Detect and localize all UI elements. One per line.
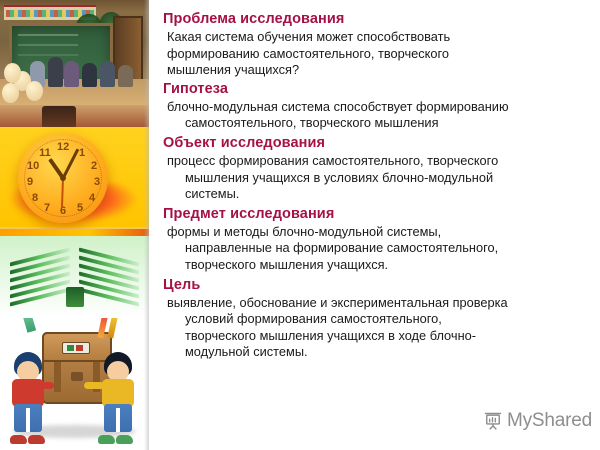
classroom-balloons [0,65,44,105]
section-heading: Гипотеза [163,80,595,99]
body-line: условий формирования самостоятельного, [163,311,595,328]
clock-numeral: 9 [24,176,36,188]
clock-center-pin [60,175,66,181]
body-line: творческого мышления учащихся в ходе бло… [163,328,595,345]
presentation-chart-icon [483,411,503,431]
classroom-photo [0,0,149,105]
clock-face: 12 1 2 3 4 5 6 7 8 9 10 11 [18,133,108,223]
body-line: формы и методы блочно-модульной системы, [163,224,595,241]
body-line: блочно-модульная система способствует фо… [163,99,595,116]
schoolkids-illustration [0,318,149,450]
open-book-icon [8,243,141,305]
book-orange-strip [0,229,149,236]
slide-text-content: Проблема исследования Какая система обуч… [163,10,595,446]
clock-numeral: 2 [88,160,100,172]
image-column: 12 1 2 3 4 5 6 7 8 9 10 11 [0,0,149,450]
clock-numeral: 11 [39,147,51,159]
clock-numeral: 5 [74,202,86,214]
section-body: формы и методы блочно-модульной системы,… [163,224,595,274]
section-goal: Цель выявление, обоснование и эксперимен… [163,276,595,361]
body-line: Какая система обучения может способствов… [163,29,595,46]
section-body: блочно-модульная система способствует фо… [163,99,595,132]
clock-numeral: 4 [86,192,98,204]
body-line: мышления учащихся в условиях блочно-моду… [163,170,595,187]
section-heading: Проблема исследования [163,10,595,29]
watermark-label: MyShared [507,410,592,432]
clock-photo: 12 1 2 3 4 5 6 7 8 9 10 11 [0,105,149,229]
clock-numeral: 10 [27,160,39,172]
section-object: Объект исследования процесс формирования… [163,134,595,203]
open-book-photo [0,229,149,318]
clock-numeral: 7 [41,202,53,214]
section-body: выявление, обоснование и экспериментальн… [163,295,595,361]
body-line: выявление, обоснование и экспериментальн… [163,295,595,312]
section-heading: Предмет исследования [163,205,595,224]
section-problem: Проблема исследования Какая система обуч… [163,10,595,79]
body-line: самостоятельного, творческого мышления [163,115,595,132]
section-subject: Предмет исследования формы и методы блоч… [163,205,595,274]
body-line: процесс формирования самостоятельного, т… [163,153,595,170]
body-line: направленные на формирование самостоятел… [163,240,595,257]
clock-numeral: 12 [57,141,69,153]
body-line: мышления учащихся? [163,62,595,79]
presentation-slide: 12 1 2 3 4 5 6 7 8 9 10 11 [0,0,600,450]
pencil-icon [107,318,118,338]
child-left [6,352,50,438]
child-right [96,352,140,438]
clock-numeral: 8 [29,192,41,204]
body-line: творческого мышления учащихся. [163,257,595,274]
clock-numeral: 6 [57,205,69,217]
clock-second-hand [61,178,64,208]
clock-numeral: 3 [91,176,103,188]
section-heading: Объект исследования [163,134,595,153]
body-line: системы. [163,186,595,203]
ruler-icon [21,318,36,333]
section-heading: Цель [163,276,595,295]
body-line: формированию самостоятельного, творческо… [163,46,595,63]
section-hypothesis: Гипотеза блочно-модульная система способ… [163,80,595,132]
section-body: Какая система обучения может способствов… [163,29,595,79]
section-body: процесс формирования самостоятельного, т… [163,153,595,203]
myshared-watermark: MyShared [483,410,592,432]
body-line: модульной системы. [163,344,595,361]
